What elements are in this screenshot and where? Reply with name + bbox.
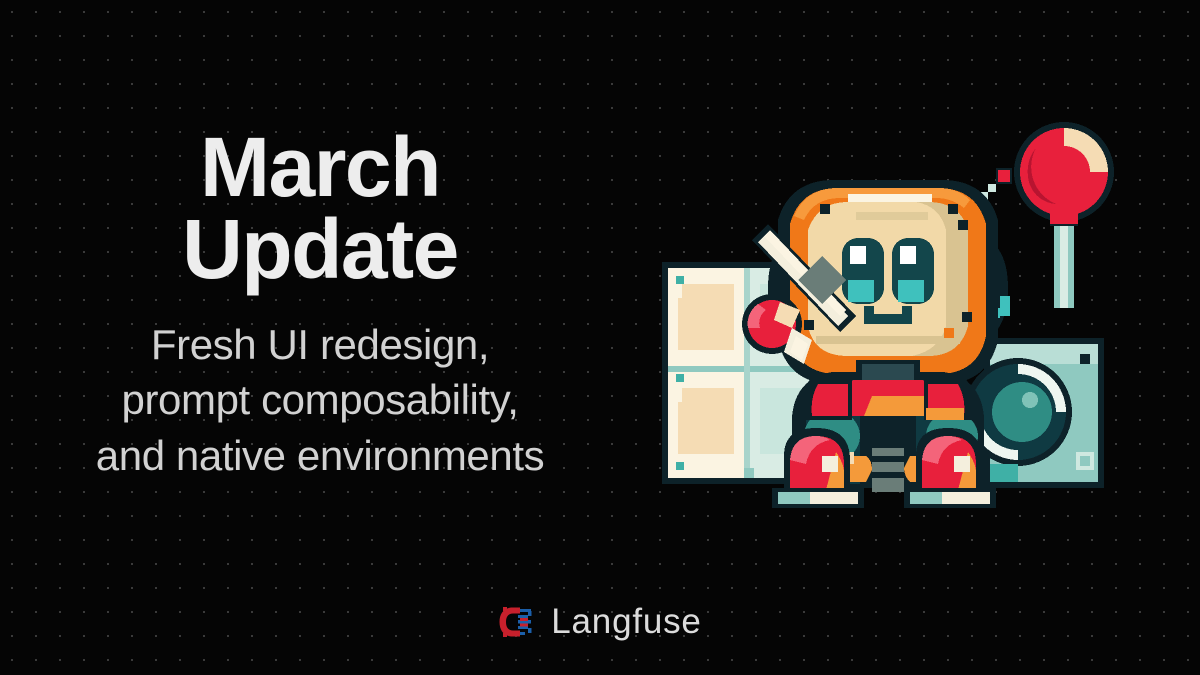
langfuse-logo-icon [498,605,538,639]
pixel-art-robot-illustration [648,112,1128,522]
page-title: March Update [0,126,640,291]
brand-lockup: Langfuse [0,604,1200,639]
page-subtitle-line-2: prompt composability, [16,372,624,428]
page-subtitle-line-3: and native environments [16,428,624,484]
robot-artwork [648,112,1128,522]
page-title-line-1: March [20,126,620,208]
balloon-icon [1014,122,1114,308]
text-column: March Update Fresh UI redesign, prompt c… [0,126,640,484]
promo-banner: March Update Fresh UI redesign, prompt c… [0,0,1200,675]
page-subtitle: Fresh UI redesign, prompt composability,… [0,317,640,485]
page-subtitle-line-1: Fresh UI redesign, [16,317,624,373]
page-title-line-2: Update [20,208,620,290]
brand-name: Langfuse [551,604,701,639]
